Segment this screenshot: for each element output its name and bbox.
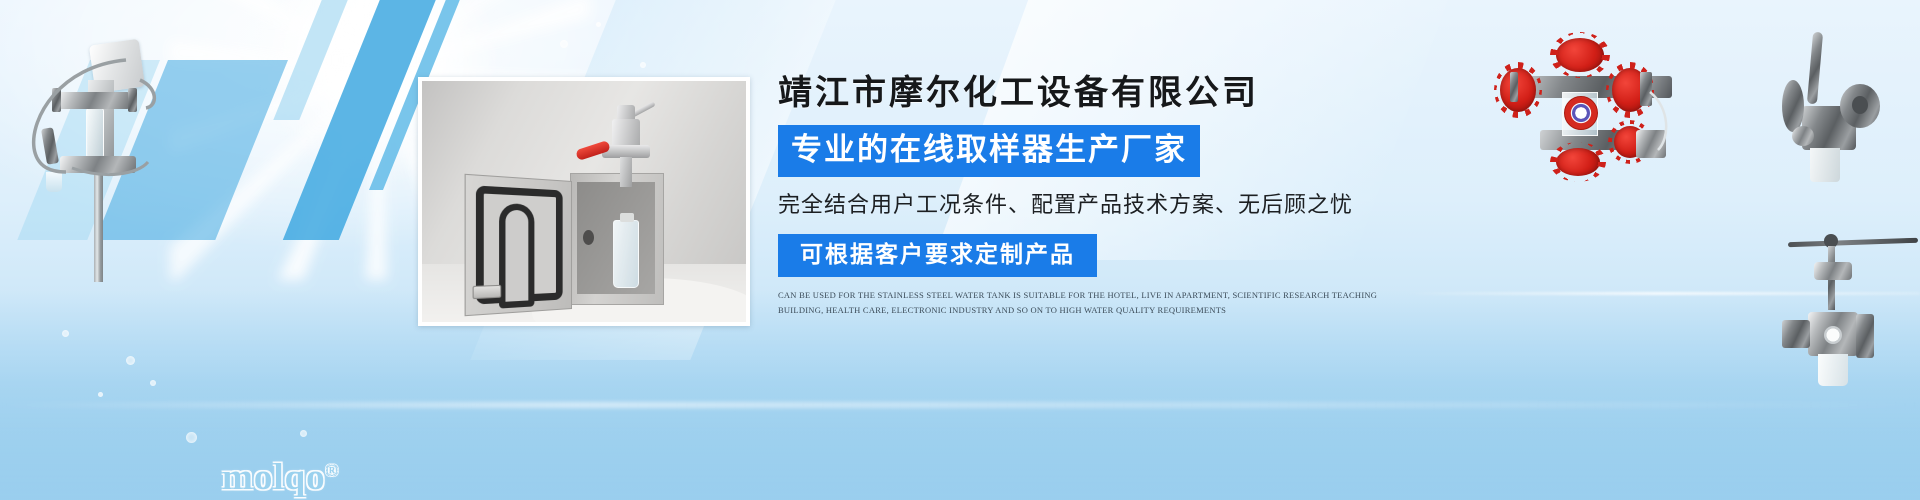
red-handwheel-cross-valve-assembly bbox=[1494, 34, 1694, 170]
gate-valve-handwheel-bar bbox=[1788, 238, 1918, 248]
lever-valve-flange-bore bbox=[1852, 96, 1868, 114]
handwheel-gate-valve bbox=[1796, 226, 1916, 386]
tagline-custom-badge: 可根据客户要求定制产品 bbox=[778, 234, 1097, 277]
brand-watermark: molqo® bbox=[222, 456, 339, 499]
watermark-registered-mark: ® bbox=[326, 463, 339, 480]
watermark-text: molqo bbox=[222, 457, 326, 498]
photo-cabinet-open-door bbox=[465, 174, 572, 317]
bubble-decoration bbox=[640, 62, 646, 68]
sampler-tubing bbox=[8, 22, 188, 282]
photo-sample-bottle bbox=[613, 220, 639, 288]
gate-valve-flange-right bbox=[1856, 314, 1874, 358]
lever-valve-side-knob bbox=[1792, 126, 1814, 146]
promo-banner: 靖江市摩尔化工设备有限公司 专业的在线取样器生产厂家 完全结合用户工况条件、配置… bbox=[0, 0, 1920, 500]
photo-cabinet-port bbox=[583, 230, 594, 245]
gate-valve-bonnet bbox=[1814, 262, 1852, 280]
water-highlight-band bbox=[0, 402, 1920, 408]
tagline-primary-badge: 专业的在线取样器生产厂家 bbox=[778, 125, 1200, 177]
bubble-decoration bbox=[126, 356, 135, 365]
photo-door-window bbox=[499, 203, 534, 309]
company-title: 靖江市摩尔化工设备有限公司 bbox=[778, 72, 1398, 116]
bubble-decoration bbox=[98, 392, 103, 397]
bubble-decoration bbox=[150, 380, 156, 386]
lever-valve-handle bbox=[1807, 32, 1823, 105]
english-description-copy: CAN BE USED FOR THE STAINLESS STEEL WATE… bbox=[778, 288, 1378, 318]
banner-text-block: 靖江市摩尔化工设备有限公司 专业的在线取样器生产厂家 完全结合用户工况条件、配置… bbox=[778, 72, 1398, 318]
gate-valve-outlet-sleeve bbox=[1818, 354, 1848, 386]
photo-valve-neck bbox=[620, 157, 632, 187]
bubble-decoration bbox=[596, 22, 601, 27]
bubble-decoration bbox=[62, 330, 69, 337]
online-sampler-device-image bbox=[8, 22, 188, 282]
photo-door-latch bbox=[473, 285, 502, 299]
bubble-decoration bbox=[300, 430, 307, 437]
cross-valve-tube bbox=[1494, 34, 1694, 170]
gate-valve-flange-left bbox=[1782, 320, 1810, 348]
gate-valve-emblem bbox=[1824, 326, 1842, 344]
bubble-decoration bbox=[186, 432, 197, 443]
photo-top-valve-assembly bbox=[598, 103, 654, 179]
tagline-secondary: 完全结合用户工况条件、配置产品技术方案、无后顾之忧 bbox=[778, 189, 1398, 221]
lever-valve-flange-left bbox=[1782, 80, 1804, 132]
lever-valve-outlet bbox=[1810, 148, 1840, 182]
photo-cabinet-body bbox=[570, 173, 664, 305]
lever-handle-flanged-valve bbox=[1788, 22, 1916, 182]
photo-bottle-cap bbox=[620, 213, 634, 222]
bubble-decoration bbox=[560, 40, 568, 48]
product-photo-sampling-cabinet bbox=[418, 77, 750, 326]
